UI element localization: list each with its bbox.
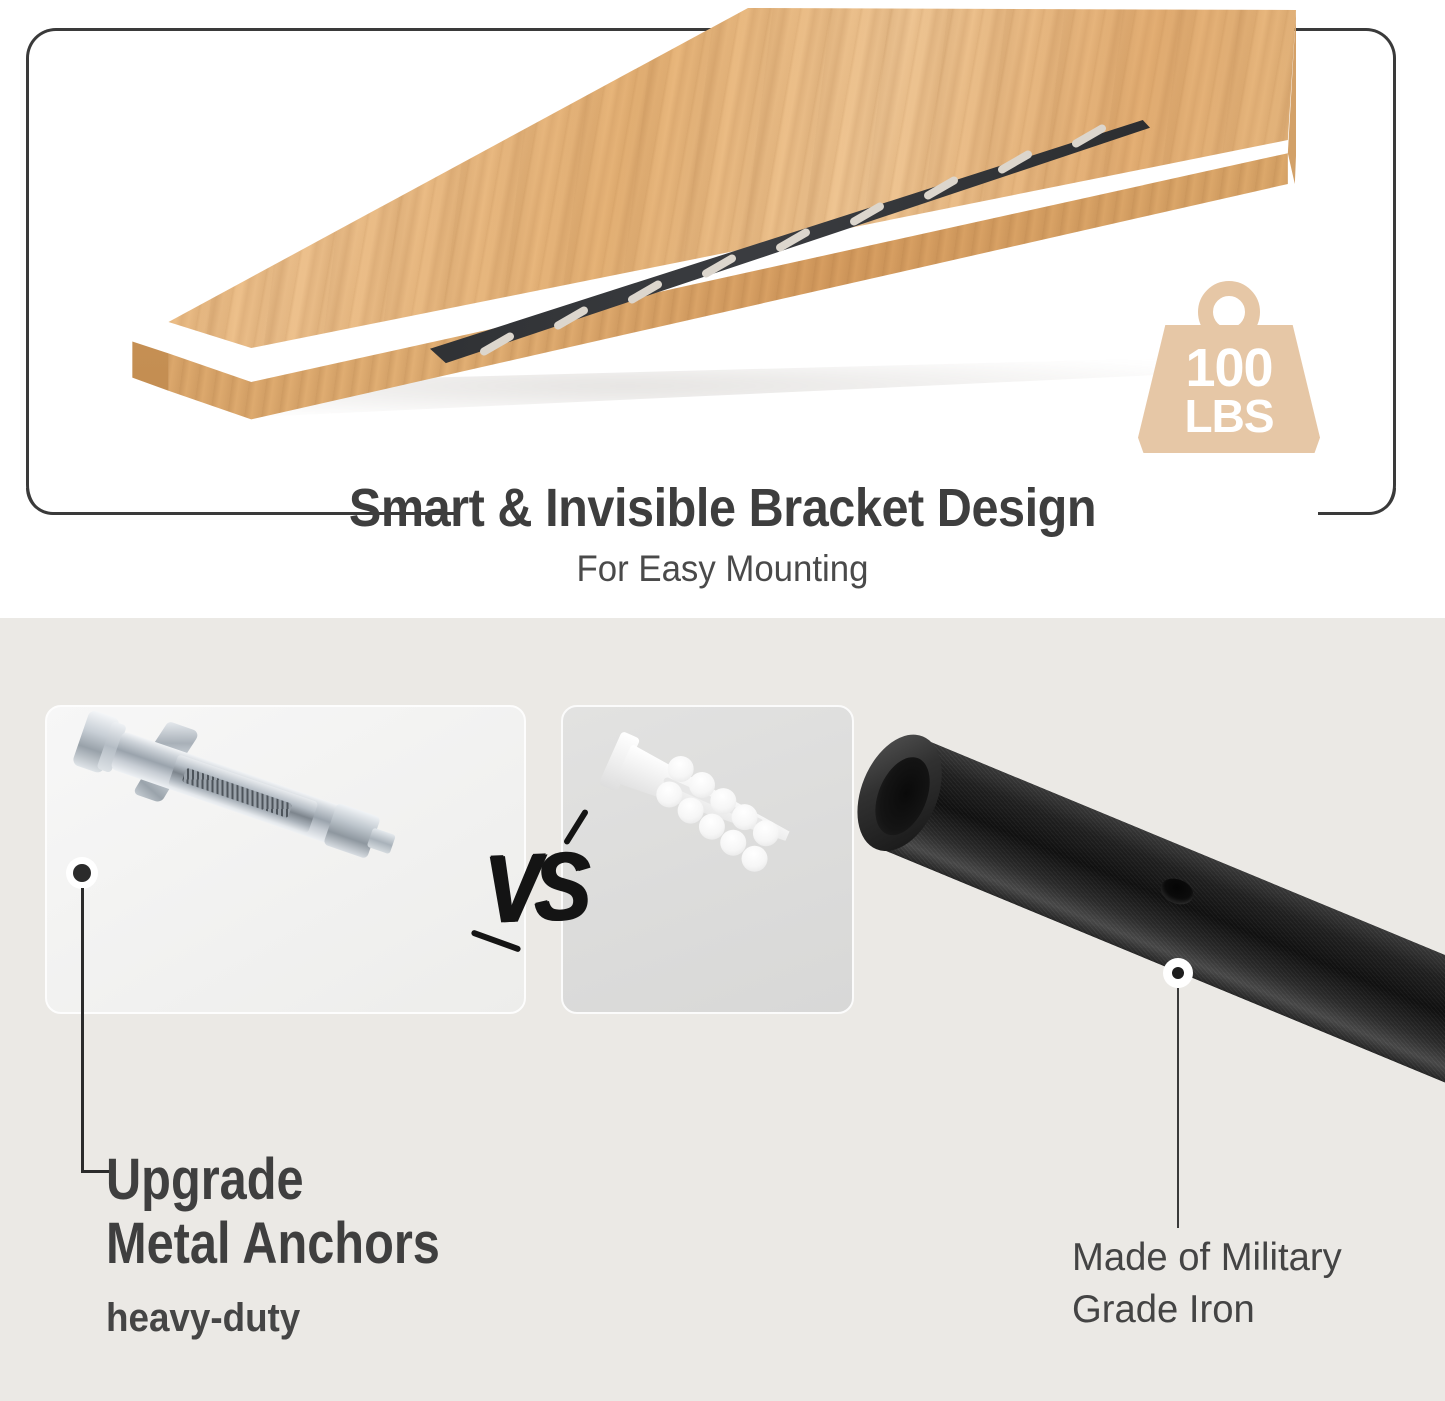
page-title: Smart & Invisible Bracket Design	[72, 477, 1373, 539]
anchor-callout-dot-icon	[66, 857, 98, 889]
anchor-tip	[367, 828, 396, 855]
weight-capacity-badge: 100 LBS	[1138, 281, 1320, 453]
tube-callout-ring-icon	[1163, 958, 1193, 988]
page-subtitle: For Easy Mounting	[43, 548, 1401, 590]
anchor-callout-leader-vertical	[81, 888, 84, 1173]
heavy-duty-subtitle: heavy-duty	[106, 1296, 300, 1341]
bracket-design-section: 100 LBS Smart & Invisible Bracket Design…	[0, 0, 1445, 618]
weight-value: 100	[1138, 341, 1320, 395]
upgrade-anchors-title: Upgrade Metal Anchors	[106, 1148, 440, 1276]
product-infographic: 100 LBS Smart & Invisible Bracket Design…	[0, 0, 1445, 1401]
military-grade-iron-label: Made of Military Grade Iron	[1072, 1232, 1342, 1336]
weight-unit: LBS	[1138, 393, 1320, 439]
iron-tube-image	[812, 721, 1445, 1174]
bracket-slot	[701, 253, 738, 279]
tube-body	[875, 738, 1445, 1121]
tube-callout-leader	[1177, 988, 1179, 1228]
vs-label: VS	[483, 831, 585, 953]
